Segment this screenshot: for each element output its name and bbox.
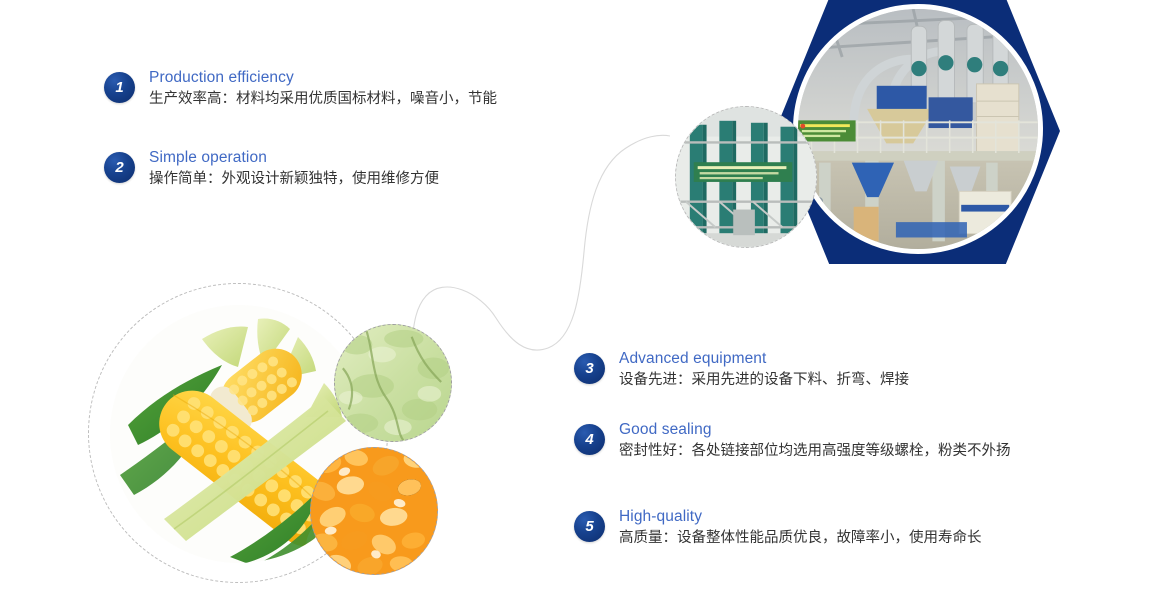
- green-machinery-photo: [675, 106, 817, 248]
- feature-badge-2: 2: [104, 152, 135, 183]
- feature-text-4: Good sealing 密封性好：各处链接部位均选用高强度等级螺栓，粉类不外扬: [619, 420, 1011, 462]
- feature-text-1: Production efficiency 生产效率高：材料均采用优质国标材料，…: [149, 68, 497, 110]
- feature-text-3: Advanced equipment 设备先进：采用先进的设备下料、折弯、焊接: [619, 349, 909, 391]
- corn-grits-photo: [310, 447, 438, 575]
- feature-badge-4: 4: [574, 424, 605, 455]
- feature-title-en-4: Good sealing: [619, 420, 1011, 440]
- feature-item-1[interactable]: 1 Production efficiency 生产效率高：材料均采用优质国标材…: [104, 72, 497, 110]
- feature-item-5[interactable]: 5 High-quality 高质量：设备整体性能品质优良，故障率小，使用寿命长: [574, 511, 982, 549]
- feature-desc-cn-5: 高质量：设备整体性能品质优良，故障率小，使用寿命长: [619, 527, 982, 549]
- milling-plant-photo: [793, 4, 1043, 254]
- green-corn-paste-photo: [334, 324, 452, 442]
- feature-title-en-5: High-quality: [619, 507, 982, 527]
- feature-desc-cn-2: 操作简单：外观设计新颖独特，使用维修方便: [149, 168, 439, 190]
- feature-badge-5: 5: [574, 511, 605, 542]
- feature-desc-cn-4: 密封性好：各处链接部位均选用高强度等级螺栓，粉类不外扬: [619, 440, 1011, 462]
- hexagon-photo-group: [775, 0, 1060, 264]
- feature-text-2: Simple operation 操作简单：外观设计新颖独特，使用维修方便: [149, 148, 439, 190]
- feature-item-4[interactable]: 4 Good sealing 密封性好：各处链接部位均选用高强度等级螺栓，粉类不…: [574, 424, 1011, 462]
- feature-item-3[interactable]: 3 Advanced equipment 设备先进：采用先进的设备下料、折弯、焊…: [574, 353, 909, 391]
- feature-desc-cn-1: 生产效率高：材料均采用优质国标材料，噪音小，节能: [149, 88, 497, 110]
- feature-badge-1: 1: [104, 72, 135, 103]
- feature-text-5: High-quality 高质量：设备整体性能品质优良，故障率小，使用寿命长: [619, 507, 982, 549]
- feature-desc-cn-3: 设备先进：采用先进的设备下料、折弯、焊接: [619, 369, 909, 391]
- feature-title-en-1: Production efficiency: [149, 68, 497, 88]
- feature-item-2[interactable]: 2 Simple operation 操作简单：外观设计新颖独特，使用维修方便: [104, 152, 439, 190]
- feature-badge-3: 3: [574, 353, 605, 384]
- feature-title-en-3: Advanced equipment: [619, 349, 909, 369]
- feature-title-en-2: Simple operation: [149, 148, 439, 168]
- infographic-stage: 1 Production efficiency 生产效率高：材料均采用优质国标材…: [0, 0, 1154, 591]
- corn-photo-group: [88, 283, 438, 591]
